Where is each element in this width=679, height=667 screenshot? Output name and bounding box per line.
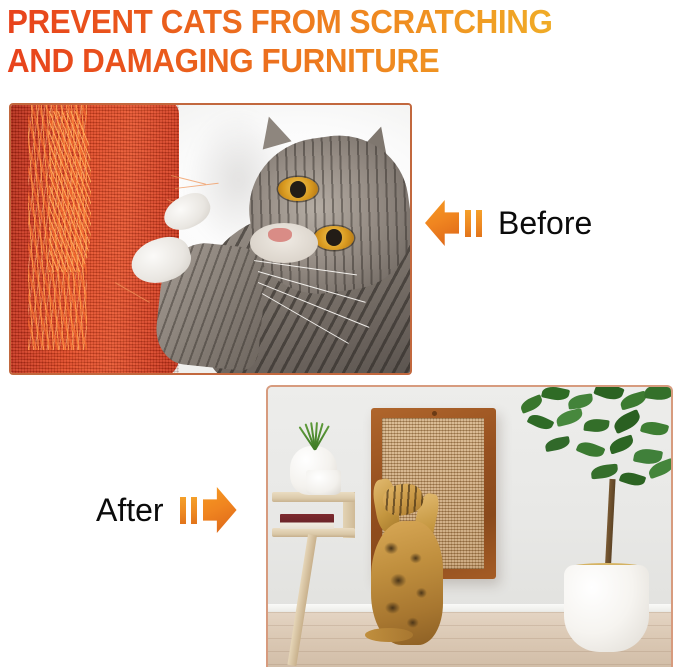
- after-photo-scene: [268, 387, 671, 667]
- after-cat-body: [371, 521, 444, 644]
- tree-leaf: [591, 463, 619, 479]
- tree-leaf: [544, 436, 571, 452]
- arrow-left-icon: [425, 200, 482, 246]
- tree-leaf: [618, 469, 645, 488]
- arrow-bars: [465, 210, 482, 237]
- tree-leaf: [555, 408, 584, 427]
- after-photo: [266, 385, 673, 667]
- arrow-right-icon: [180, 487, 237, 533]
- before-cat-eye: [314, 226, 354, 250]
- arrow-bars: [180, 497, 197, 524]
- tree-leaf: [640, 419, 669, 438]
- page-title: PREVENT CATS FROM SCRATCHING AND DAMAGIN…: [7, 2, 679, 80]
- tree-leaf: [584, 418, 610, 434]
- tree-leaf: [541, 387, 570, 403]
- tree-leaf: [526, 412, 554, 434]
- headline-line-2: AND DAMAGING FURNITURE: [7, 41, 645, 80]
- arrow-head-shape: [203, 487, 237, 533]
- tree-leaf: [644, 387, 671, 402]
- before-photo: [9, 103, 412, 375]
- ficus-tree-canopy: [510, 387, 671, 516]
- before-marker: Before: [425, 200, 592, 246]
- before-cat-pupil: [326, 229, 342, 245]
- sofa-shredded-threads: [49, 111, 91, 273]
- arrow-bar: [180, 497, 186, 524]
- after-cat-spots: [371, 521, 444, 644]
- after-cat-tail: [365, 628, 413, 642]
- after-marker: After: [96, 487, 237, 533]
- stacked-books: [280, 514, 334, 529]
- headline-line-1: PREVENT CATS FROM SCRATCHING: [7, 2, 645, 41]
- tree-leaf: [608, 434, 636, 454]
- after-label: After: [96, 494, 164, 526]
- tree-leaf: [593, 387, 625, 403]
- arrow-bar: [465, 210, 471, 237]
- before-cat-pupil: [290, 181, 306, 197]
- before-cat-nose: [268, 228, 292, 241]
- before-label: Before: [498, 207, 592, 239]
- arrow-bar: [191, 497, 197, 524]
- white-planter: [564, 565, 649, 652]
- sofa-arm: [11, 105, 179, 373]
- potted-succulent: [294, 422, 334, 450]
- white-small-pot: [306, 470, 340, 495]
- tree-leaf: [611, 409, 643, 434]
- arrow-bar: [476, 210, 482, 237]
- arrow-head-shape: [425, 200, 459, 246]
- tree-leaf: [567, 393, 593, 410]
- frame-screw: [432, 411, 437, 416]
- tree-leaf: [576, 439, 606, 461]
- before-photo-scene: [11, 105, 410, 373]
